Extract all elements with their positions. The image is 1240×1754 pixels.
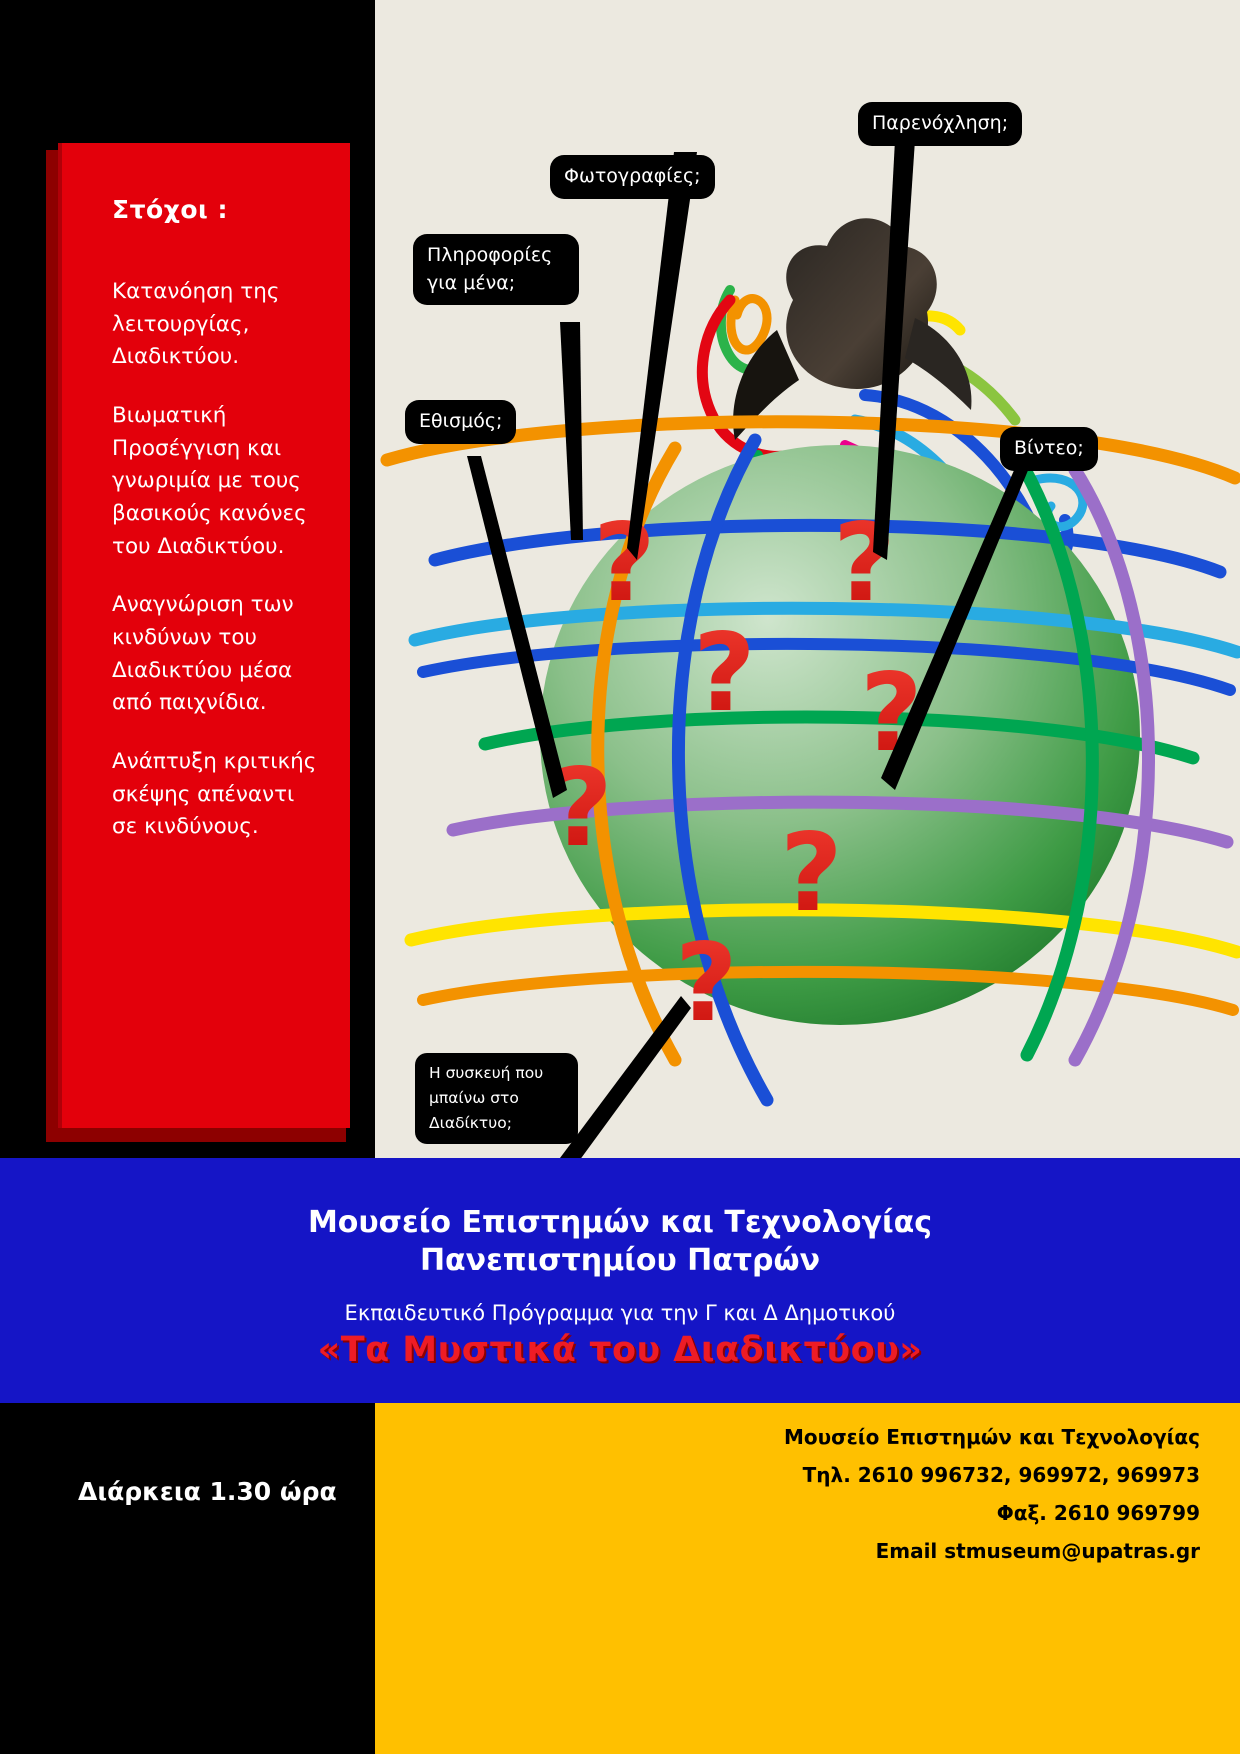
contact-name: Μουσείο Επιστημών και Τεχνολογίας xyxy=(375,1403,1240,1447)
museum-name-line1: Μουσείο Επιστημών και Τεχνολογίας xyxy=(0,1204,1240,1242)
bubble-device[interactable]: Η συσκευή που μπαίνω στο Διαδίκτυο; xyxy=(415,1053,578,1144)
program-title: «Τα Μυστικά του Διαδικτύου» xyxy=(0,1330,1240,1370)
objectives-title: Στόχοι : xyxy=(112,195,326,224)
poster: ? ? ? ? ? ? ? Παρενόχληση; xyxy=(0,0,1240,1754)
bubble-video[interactable]: Βίντεο; xyxy=(1000,427,1098,471)
bubble-info[interactable]: Πληροφορίες για μένα; xyxy=(413,234,579,305)
bubble-addiction[interactable]: Εθισμός; xyxy=(405,400,516,444)
museum-name-line2: Πανεπιστημίου Πατρών xyxy=(0,1242,1240,1280)
illustration-canvas: ? ? ? ? ? ? ? Παρενόχληση; xyxy=(375,0,1240,1158)
contact-email: Email stmuseum@upatras.gr xyxy=(375,1541,1240,1561)
poster-footer: Μουσείο Επιστημών και Τεχνολογίας Τηλ. 2… xyxy=(0,1403,1240,1754)
bubble-photos[interactable]: Φωτογραφίες; xyxy=(550,155,715,199)
bubble-harassment[interactable]: Παρενόχληση; xyxy=(858,102,1022,146)
objective-item: Ανάπτυξη κριτικής σκέψης απέναντι σε κιν… xyxy=(112,746,326,844)
objectives-panel: Στόχοι : Κατανόηση της λειτουργίας, Διαδ… xyxy=(62,143,350,1128)
program-subtitle: Εκπαιδευτικό Πρόγραμμα για την Γ και Δ Δ… xyxy=(0,1301,1240,1325)
contact-fax: Φαξ. 2610 969799 xyxy=(375,1503,1240,1523)
contact-block: Μουσείο Επιστημών και Τεχνολογίας Τηλ. 2… xyxy=(375,1403,1240,1754)
poster-upper-stage: ? ? ? ? ? ? ? Παρενόχληση; xyxy=(0,0,1240,1158)
objective-item: Αναγνώριση των κινδύνων του Διαδικτύου μ… xyxy=(112,589,326,720)
objective-item: Βιωματική Προσέγγιση και γνωριμία με του… xyxy=(112,400,326,563)
duration-label: Διάρκεια 1.30 ώρα xyxy=(78,1477,337,1506)
contact-phone: Τηλ. 2610 996732, 969972, 969973 xyxy=(375,1465,1240,1485)
bubble-pointers xyxy=(375,0,1240,1158)
objective-item: Κατανόηση της λειτουργίας, Διαδικτύου. xyxy=(112,276,326,374)
